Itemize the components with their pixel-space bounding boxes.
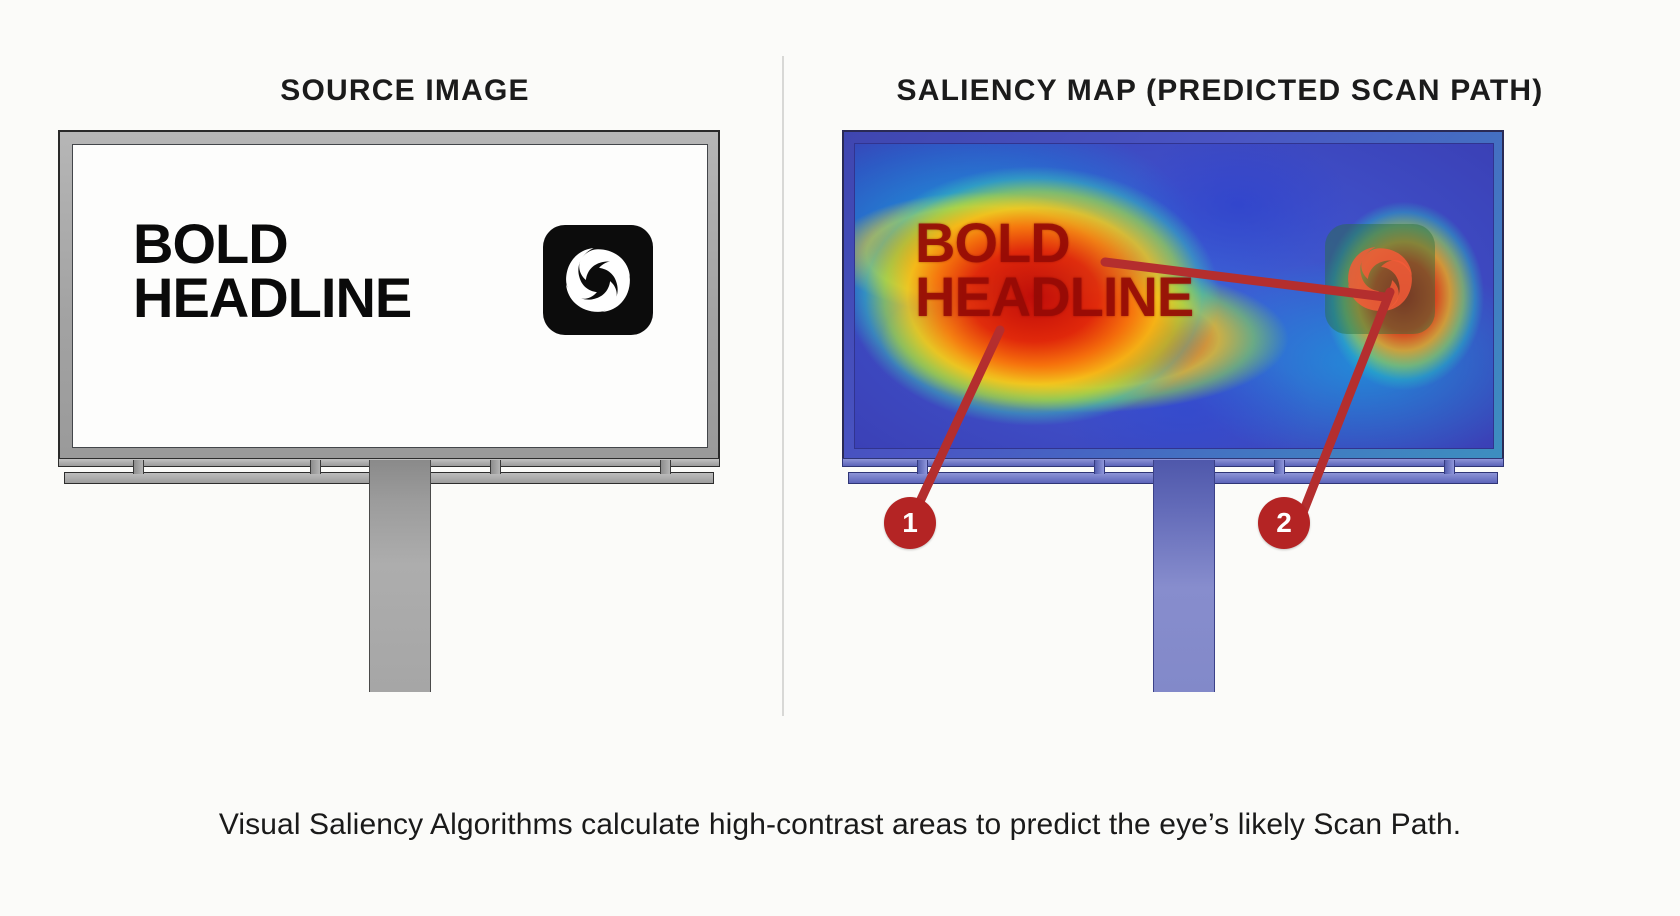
saliency-billboard-strut [1094, 460, 1105, 474]
aperture-shutter-icon [1325, 224, 1435, 334]
saliency-billboard: BOLD HEADLINE [0, 0, 1680, 780]
figure-caption: Visual Saliency Algorithms calculate hig… [0, 808, 1680, 842]
scan-path-marker-2[interactable]: 2 [1258, 497, 1310, 549]
scan-path-marker-1[interactable]: 1 [884, 497, 936, 549]
saliency-headline-text: BOLD HEADLINE [915, 216, 1193, 324]
saliency-billboard-strut [1274, 460, 1285, 474]
saliency-billboard-strut [917, 460, 928, 474]
saliency-heatmap-face: BOLD HEADLINE [854, 143, 1494, 449]
saliency-billboard-strut [1444, 460, 1455, 474]
saliency-billboard-post [1153, 460, 1215, 692]
saliency-comparison-figure: SOURCE IMAGE SALIENCY MAP (PREDICTED SCA… [0, 0, 1680, 916]
